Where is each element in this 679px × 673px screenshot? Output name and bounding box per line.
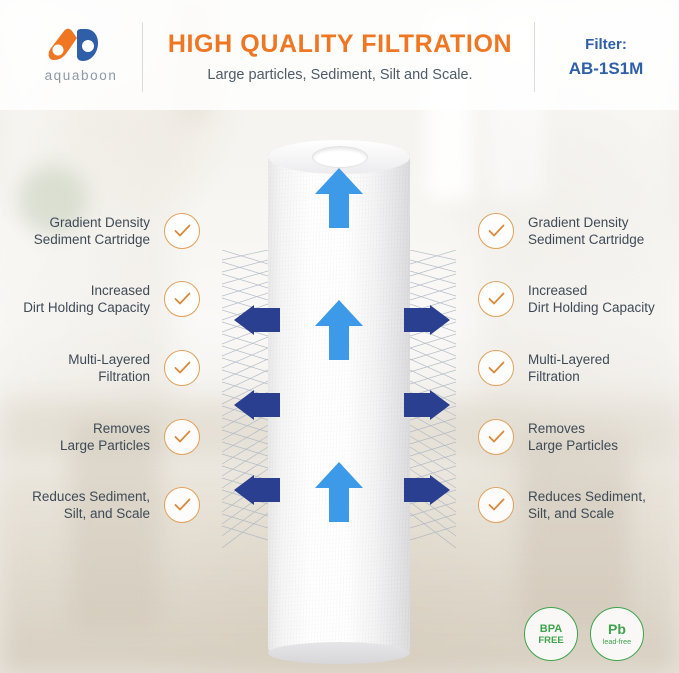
header-bar: aquaboon HIGH QUALITY FILTRATION Large p… [0, 0, 679, 110]
page-subtitle: Large particles, Sediment, Silt and Scal… [150, 67, 530, 83]
feature-left-2-line2: Dirt Holding Capacity [23, 299, 150, 316]
check-icon [478, 213, 514, 249]
check-icon [164, 419, 200, 455]
flow-arrow-in-left-2 [234, 390, 280, 420]
feature-right-1-line1: Gradient Density [528, 214, 644, 231]
header-title-block: HIGH QUALITY FILTRATION Large particles,… [150, 30, 530, 83]
bpa-free-badge-line1: BPA [540, 623, 562, 635]
feature-right-5-text: Reduces Sediment, Silt, and Scale [528, 488, 646, 522]
flow-arrow-in-left-3 [234, 475, 280, 505]
feature-left-3: Multi-Layered Filtration [10, 350, 200, 386]
header-divider-left [142, 22, 143, 92]
check-icon [164, 281, 200, 317]
feature-right-5: Reduces Sediment, Silt, and Scale [478, 487, 673, 523]
feature-left-2: Increased Dirt Holding Capacity [10, 281, 200, 317]
check-icon [478, 487, 514, 523]
feature-left-3-line2: Filtration [68, 368, 150, 385]
feature-right-1: Gradient Density Sediment Cartridge [478, 213, 673, 249]
feature-right-5-line1: Reduces Sediment, [528, 488, 646, 505]
check-icon [164, 350, 200, 386]
feature-right-3-line2: Filtration [528, 368, 610, 385]
feature-left-1-line2: Sediment Cartridge [34, 231, 150, 248]
filter-info-block: Filter: AB-1S1M [540, 36, 672, 79]
aquaboon-droplet-logo-icon [46, 26, 106, 64]
feature-right-4-text: Removes Large Particles [528, 420, 618, 454]
flow-arrow-in-left-1 [234, 305, 280, 335]
certification-badges: BPA FREE Pb lead-free [516, 605, 656, 663]
feature-left-2-line1: Increased [23, 282, 150, 299]
feature-right-4: Removes Large Particles [478, 419, 673, 455]
background-stool-right [520, 430, 630, 630]
filter-label: Filter: [540, 36, 672, 53]
lead-free-badge-label: lead-free [603, 637, 631, 646]
feature-right-5-line2: Silt, and Scale [528, 505, 646, 522]
feature-right-2-line1: Increased [528, 282, 655, 299]
feature-right-2: Increased Dirt Holding Capacity [478, 281, 673, 317]
feature-left-4-line2: Large Particles [60, 437, 150, 454]
feature-right-1-text: Gradient Density Sediment Cartridge [528, 214, 644, 248]
check-icon [478, 350, 514, 386]
feature-left-5-line1: Reduces Sediment, [32, 488, 150, 505]
feature-left-5: Reduces Sediment, Silt, and Scale [10, 487, 200, 523]
feature-right-3-line1: Multi-Layered [528, 351, 610, 368]
check-icon [164, 213, 200, 249]
lead-symbol: Pb [608, 622, 626, 636]
feature-right-2-text: Increased Dirt Holding Capacity [528, 282, 655, 316]
feature-right-3: Multi-Layered Filtration [478, 350, 673, 386]
feature-left-1-text: Gradient Density Sediment Cartridge [34, 214, 150, 248]
flow-arrow-in-right-1 [404, 305, 450, 335]
brand-name: aquaboon [22, 68, 140, 83]
filter-model: AB-1S1M [540, 59, 672, 79]
feature-left-4-text: Removes Large Particles [60, 420, 150, 454]
flow-arrow-in-right-3 [404, 475, 450, 505]
feature-right-2-line2: Dirt Holding Capacity [528, 299, 655, 316]
bpa-free-badge-line2: FREE [538, 635, 563, 646]
flow-arrow-up-2 [314, 300, 364, 360]
bpa-free-badge: BPA FREE [524, 607, 578, 661]
check-icon [478, 419, 514, 455]
flow-arrow-in-right-2 [404, 390, 450, 420]
brand-logo: aquaboon [22, 26, 132, 88]
flow-arrow-up-1 [314, 168, 364, 228]
feature-left-3-line1: Multi-Layered [68, 351, 150, 368]
feature-right-4-line2: Large Particles [528, 437, 618, 454]
cartridge-bottom-edge [268, 642, 410, 664]
header-divider-right [534, 22, 535, 92]
feature-left-4: Removes Large Particles [10, 419, 200, 455]
cartridge-center-hole [312, 146, 368, 168]
feature-right-3-text: Multi-Layered Filtration [528, 351, 610, 385]
feature-right-1-line2: Sediment Cartridge [528, 231, 644, 248]
feature-left-1-line1: Gradient Density [34, 214, 150, 231]
page-title: HIGH QUALITY FILTRATION [150, 30, 530, 59]
flow-arrow-up-3 [314, 462, 364, 522]
feature-left-1: Gradient Density Sediment Cartridge [10, 213, 200, 249]
feature-left-2-text: Increased Dirt Holding Capacity [23, 282, 150, 316]
feature-left-5-line2: Silt, and Scale [32, 505, 150, 522]
feature-left-5-text: Reduces Sediment, Silt, and Scale [32, 488, 150, 522]
feature-right-4-line1: Removes [528, 420, 618, 437]
feature-left-4-line1: Removes [60, 420, 150, 437]
lead-free-badge: Pb lead-free [590, 607, 644, 661]
check-icon [478, 281, 514, 317]
feature-left-3-text: Multi-Layered Filtration [68, 351, 150, 385]
check-icon [164, 487, 200, 523]
